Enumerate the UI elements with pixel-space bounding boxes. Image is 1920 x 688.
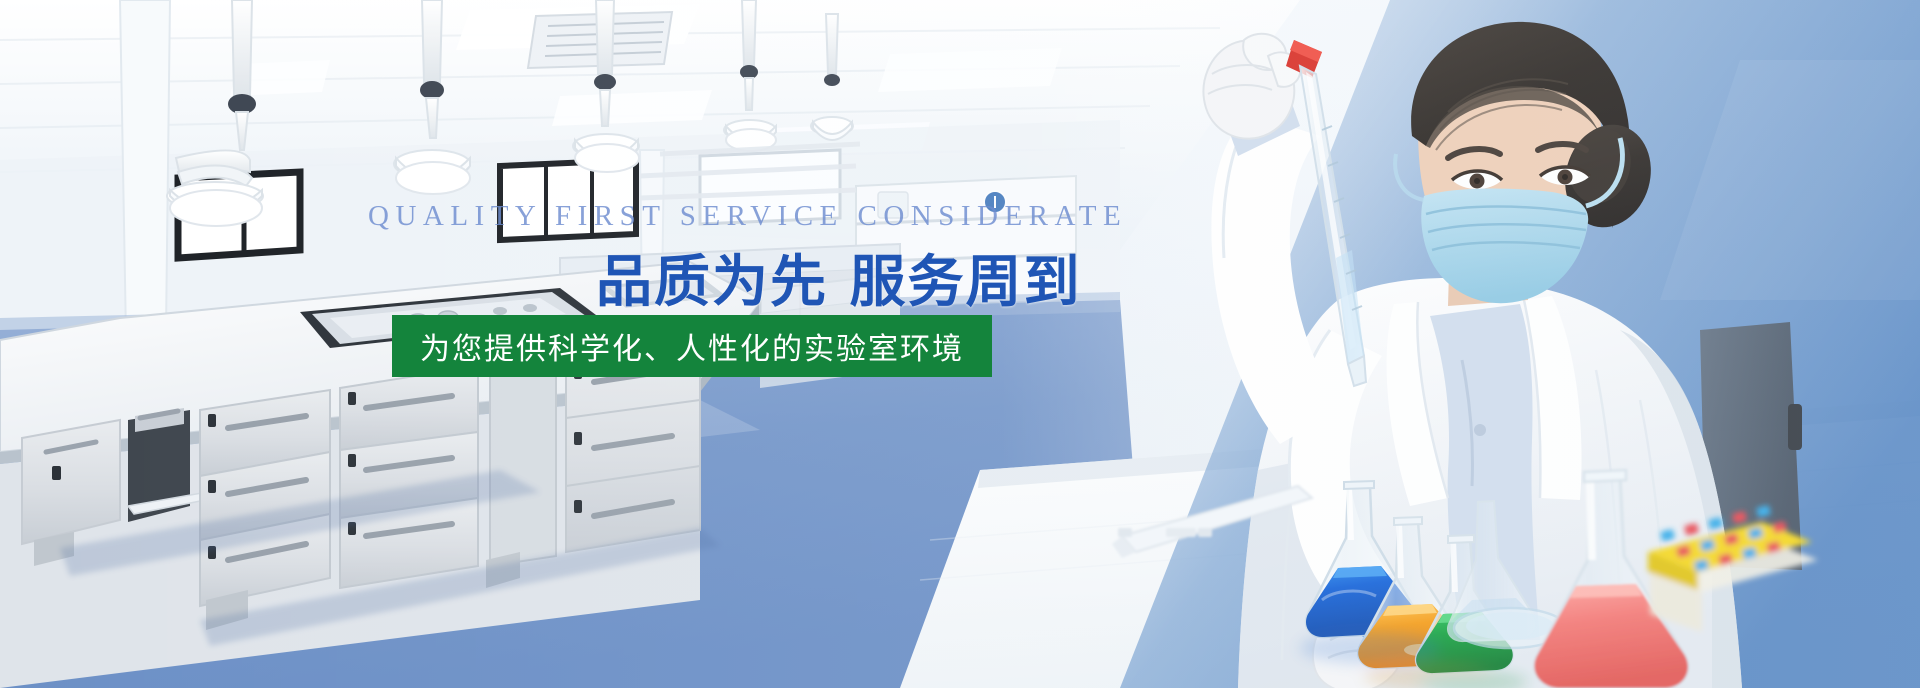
lab-scene — [0, 0, 1920, 688]
hero-banner: QUALITY FIRST SERVICE CONSIDERATE 品质为先 服… — [0, 0, 1920, 688]
